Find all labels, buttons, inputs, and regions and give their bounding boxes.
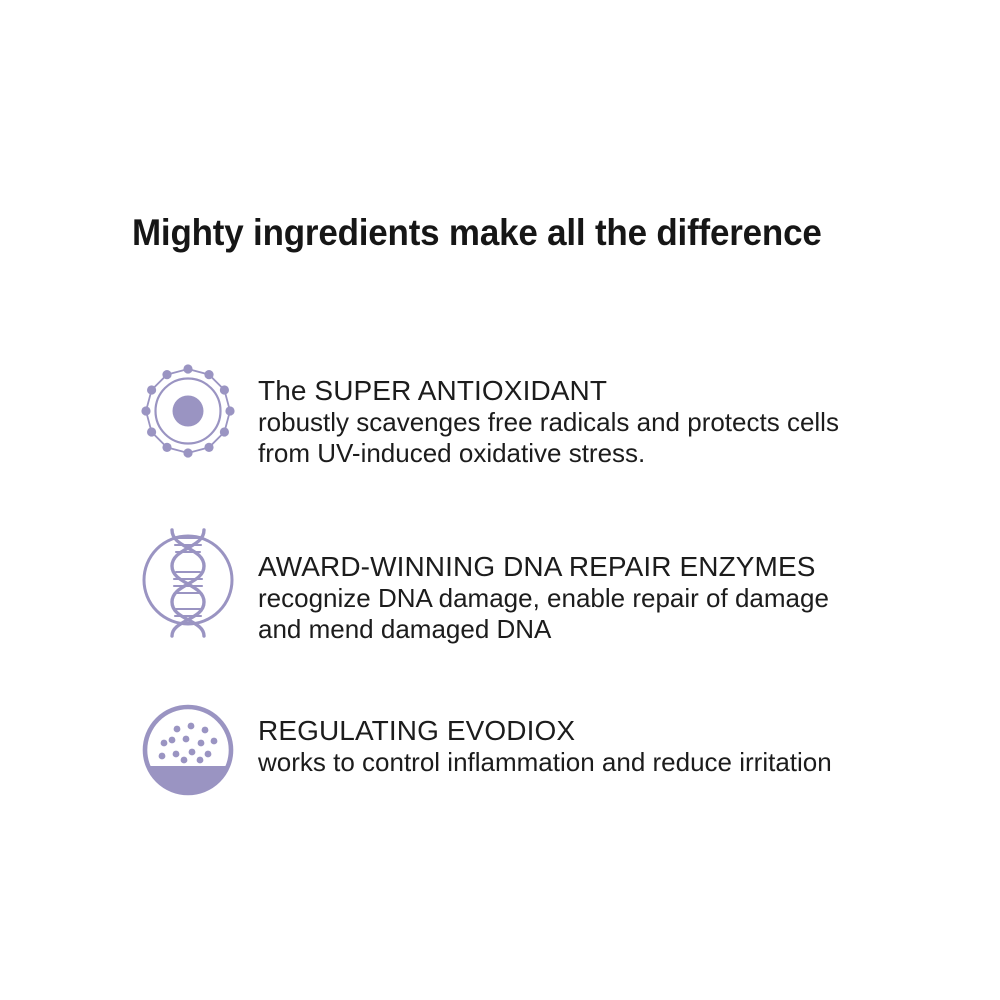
- dna-helix-icon: [134, 526, 242, 634]
- feature-description: works to control inflammation and reduce…: [258, 747, 918, 778]
- feature-title: The SUPER ANTIOXIDANT: [258, 374, 918, 407]
- antioxidant-cell-icon: [134, 364, 242, 472]
- feature-title: AWARD-WINNING DNA REPAIR ENZYMES: [258, 550, 918, 583]
- feature-description: robustly scavenges free radicals and pro…: [258, 407, 918, 469]
- feature-text-evodiox: REGULATING EVODIOX works to control infl…: [258, 714, 918, 778]
- evodiox-droplet-icon: [134, 696, 242, 804]
- feature-text-antioxidant: The SUPER ANTIOXIDANT robustly scavenges…: [258, 374, 918, 469]
- feature-description-line: and mend damaged DNA: [258, 614, 918, 645]
- feature-title: REGULATING EVODIOX: [258, 714, 918, 747]
- feature-description-line: works to control inflammation and reduce…: [258, 747, 918, 778]
- feature-description-line: from UV-induced oxidative stress.: [258, 438, 918, 469]
- feature-text-dna-repair: AWARD-WINNING DNA REPAIR ENZYMES recogni…: [258, 550, 918, 645]
- feature-description: recognize DNA damage, enable repair of d…: [258, 583, 918, 645]
- page-title: Mighty ingredients make all the differen…: [132, 211, 869, 255]
- feature-description-line: robustly scavenges free radicals and pro…: [258, 407, 918, 438]
- infographic-page: Mighty ingredients make all the differen…: [0, 0, 1000, 1000]
- feature-description-line: recognize DNA damage, enable repair of d…: [258, 583, 918, 614]
